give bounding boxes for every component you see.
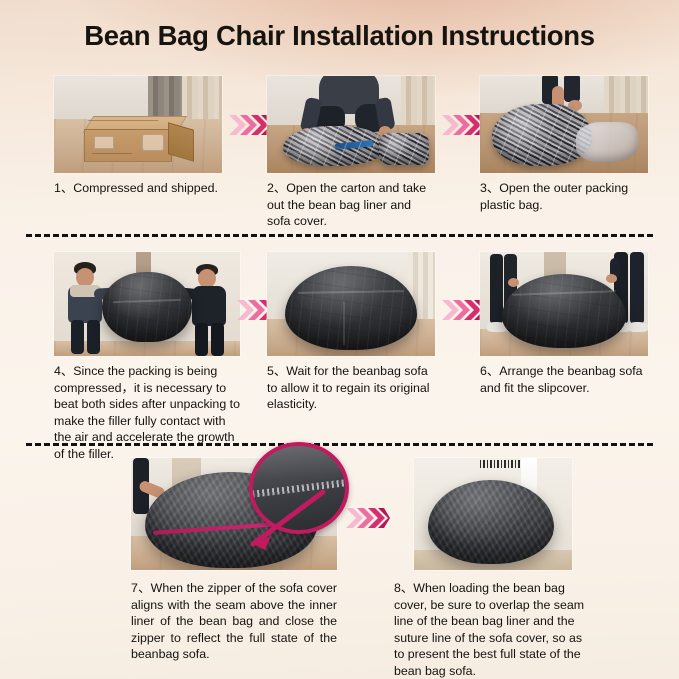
step-5-image xyxy=(267,252,435,356)
step-8-image xyxy=(414,458,572,570)
step-5-caption: 5、Wait for the beanbag sofa to allow it … xyxy=(267,363,435,413)
step-2-caption: 2、Open the carton and take out the bean … xyxy=(267,180,435,230)
step-3-caption: 3、Open the outer packing plastic bag. xyxy=(480,180,648,213)
chevron-arrow-5 xyxy=(345,505,391,531)
page-title-container: Bean Bag Chair Installation Instructions xyxy=(0,20,679,52)
chevron-arrow-icon xyxy=(345,505,391,531)
step-5: 5、Wait for the beanbag sofa to allow it … xyxy=(267,252,435,413)
step-1-image xyxy=(54,76,222,173)
step-2: 2、Open the carton and take out the bean … xyxy=(267,76,435,230)
step-6-image xyxy=(480,252,648,356)
step-6: 6、Arrange the beanbag sofa and fit the s… xyxy=(480,252,648,396)
step-8-caption: 8、When loading the bean bag cover, be su… xyxy=(394,580,590,679)
step-1-caption: 1、Compressed and shipped. xyxy=(54,180,222,197)
step-8: 8、When loading the bean bag cover, be su… xyxy=(394,458,590,679)
step-7: 7、When the zipper of the sofa cover alig… xyxy=(131,458,337,663)
step-2-image xyxy=(267,76,435,173)
step-3-image xyxy=(480,76,648,173)
step-1: 1、Compressed and shipped. xyxy=(54,76,222,197)
step-7-image xyxy=(131,458,337,570)
step-3: 3、Open the outer packing plastic bag. xyxy=(480,76,648,213)
callout-pointer-icon xyxy=(227,486,331,562)
step-4-image xyxy=(54,252,240,356)
step-6-caption: 6、Arrange the beanbag sofa and fit the s… xyxy=(480,363,648,396)
page-title: Bean Bag Chair Installation Instructions xyxy=(84,20,595,52)
section-divider-1 xyxy=(26,234,653,237)
step-7-caption: 7、When the zipper of the sofa cover alig… xyxy=(131,580,337,663)
instruction-poster: Bean Bag Chair Installation Instructions xyxy=(0,0,679,679)
step-4-caption: 4、Since the packing is being compressed，… xyxy=(54,363,240,463)
step-4: 4、Since the packing is being compressed，… xyxy=(54,252,240,463)
